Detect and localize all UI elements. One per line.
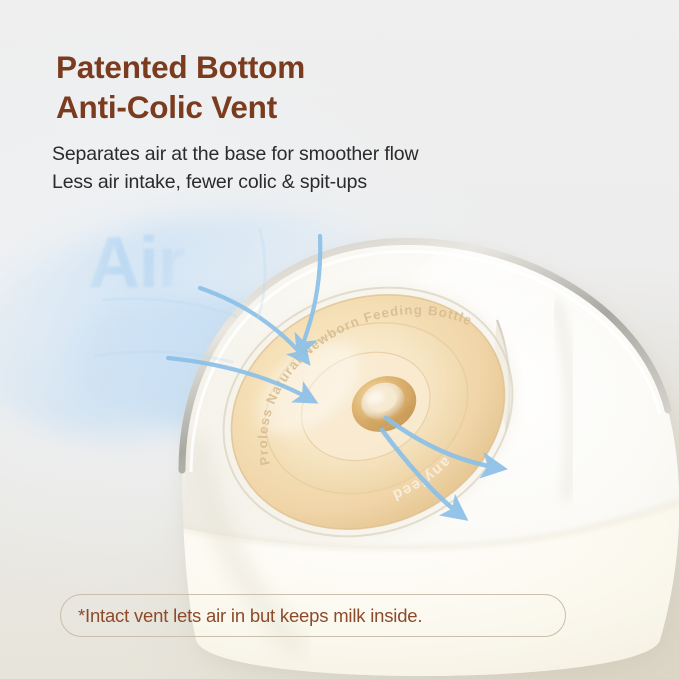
subtitle-line-1: Separates air at the base for smoother f… <box>52 140 418 168</box>
product-feature-image: Air <box>0 0 679 679</box>
page-title: Patented Bottom Anti-Colic Vent <box>56 48 305 127</box>
headline-block: Patented Bottom Anti-Colic Vent <box>56 48 305 127</box>
subtitle-block: Separates air at the base for smoother f… <box>52 140 418 196</box>
subtitle-line-2: Less air intake, fewer colic & spit-ups <box>52 168 418 196</box>
footnote-text: *Intact vent lets air in but keeps milk … <box>78 605 422 627</box>
footnote-pill: *Intact vent lets air in but keeps milk … <box>60 594 566 637</box>
